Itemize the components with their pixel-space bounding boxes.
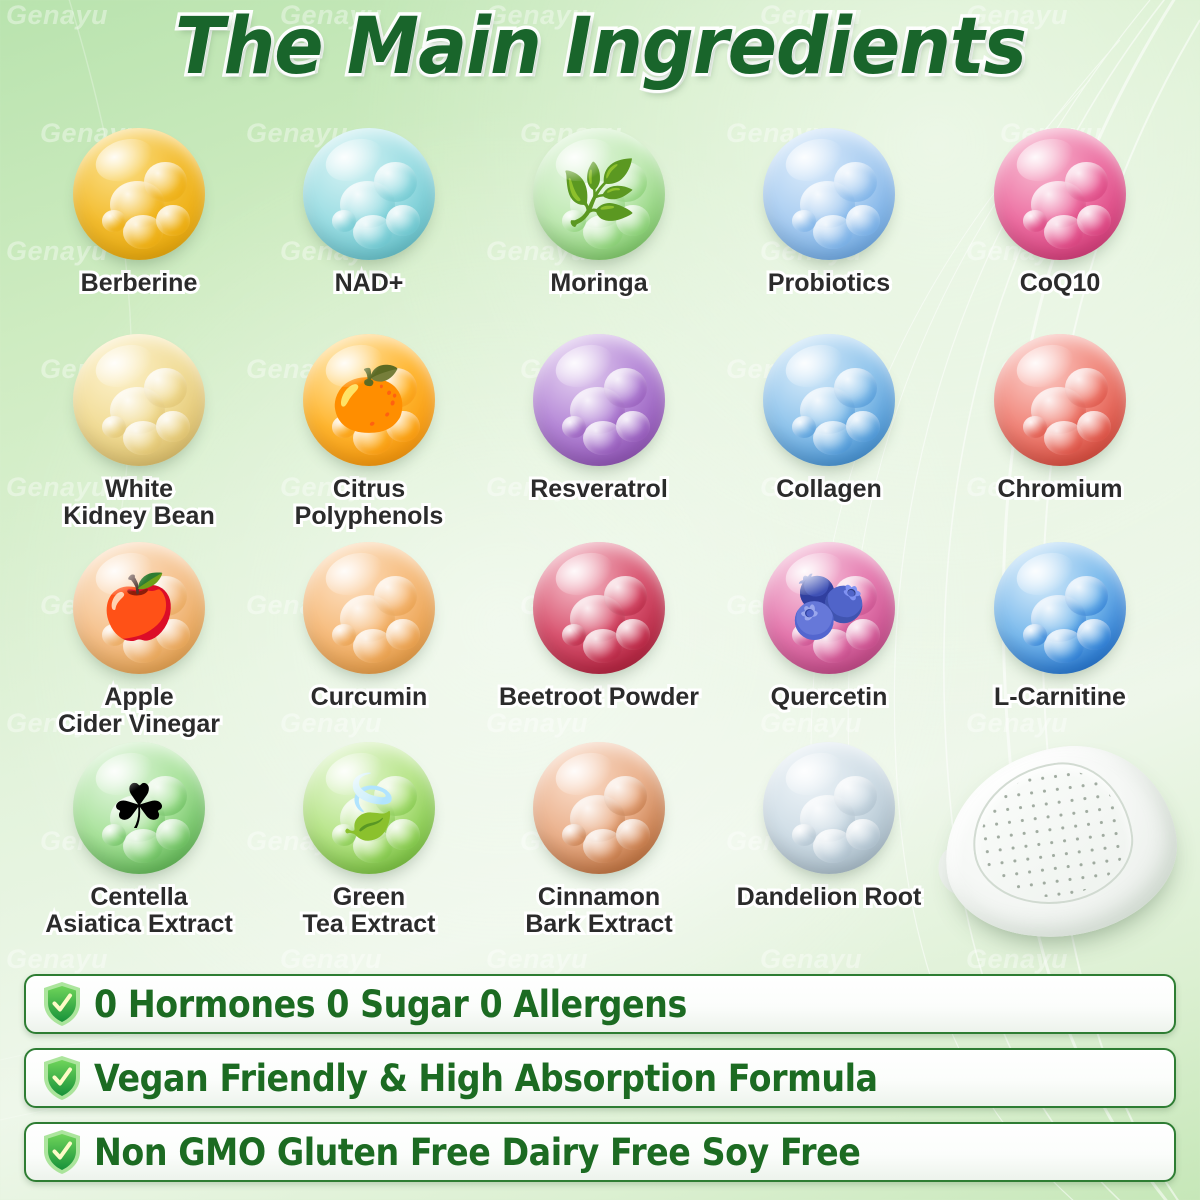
ingredient-label: Quercetin bbox=[771, 684, 888, 711]
claim-bar: Non GMO Gluten Free Dairy Free Soy Free bbox=[24, 1122, 1176, 1182]
ingredient-cell[interactable]: White Kidney Bean bbox=[24, 334, 254, 542]
title-container: The Main Ingredients bbox=[0, 8, 1200, 88]
white-teardrop-applicator bbox=[944, 748, 1176, 936]
ingredient-label: Citrus Polyphenols bbox=[295, 476, 444, 529]
ingredient-label: Probiotics bbox=[768, 270, 890, 297]
ingredient-label: Apple Cider Vinegar bbox=[58, 684, 220, 737]
ingredient-cell[interactable]: Berberine bbox=[24, 128, 254, 334]
bubble-inner-detail bbox=[533, 542, 665, 674]
ingredient-label: White Kidney Bean bbox=[63, 476, 214, 529]
claim-text: Vegan Friendly & High Absorption Formula bbox=[94, 1060, 878, 1097]
ingredient-glyph: ☘ bbox=[73, 742, 205, 874]
ingredient-label: L-Carnitine bbox=[994, 684, 1126, 711]
ingredient-glyph: 🍊 bbox=[303, 334, 435, 466]
ingredient-cell[interactable]: 🌿Moringa bbox=[484, 128, 714, 334]
red-chromium-molecule-icon bbox=[994, 334, 1126, 466]
bubble-inner-detail bbox=[73, 128, 205, 260]
ingredient-glyph: 🍃 bbox=[303, 742, 435, 874]
ingredient-label: Centella Asiatica Extract bbox=[45, 884, 233, 937]
bubble-inner-detail bbox=[994, 128, 1126, 260]
ingredient-glyph: 🍎 bbox=[73, 542, 205, 674]
ingredient-cell[interactable]: Chromium bbox=[944, 334, 1176, 542]
claim-bar: 0 Hormones 0 Sugar 0 Allergens bbox=[24, 974, 1176, 1034]
shield-check-icon bbox=[42, 1055, 82, 1101]
mixed-berries-icon: 🫐 bbox=[763, 542, 895, 674]
purple-resveratrol-icon bbox=[533, 334, 665, 466]
ingredient-cell[interactable]: ☘Centella Asiatica Extract bbox=[24, 742, 254, 948]
ingredient-cell[interactable]: 🍎Apple Cider Vinegar bbox=[24, 542, 254, 742]
apple-cider-vinegar-icon: 🍎 bbox=[73, 542, 205, 674]
bubble-inner-detail bbox=[994, 542, 1126, 674]
ingredient-label: Moringa bbox=[550, 270, 647, 297]
shield-check-icon bbox=[42, 1129, 82, 1175]
dandelion-seedhead-icon bbox=[763, 742, 895, 874]
ingredient-cell[interactable]: NAD+ bbox=[254, 128, 484, 334]
ingredient-label: NAD+ bbox=[335, 270, 404, 297]
pink-coq10-droplet-icon bbox=[994, 128, 1126, 260]
claim-text: 0 Hormones 0 Sugar 0 Allergens bbox=[94, 986, 687, 1023]
bubble-inner-detail bbox=[73, 334, 205, 466]
bubble-inner-detail bbox=[303, 128, 435, 260]
cyan-crystal-droplet-icon bbox=[303, 128, 435, 260]
bubble-inner-detail bbox=[533, 334, 665, 466]
ingredient-label: Green Tea Extract bbox=[303, 884, 436, 937]
ingredient-grid: BerberineNAD+🌿MoringaProbioticsCoQ10Whit… bbox=[24, 128, 1176, 948]
ingredient-label: Chromium bbox=[998, 476, 1123, 503]
ingredient-glyph: 🫐 bbox=[763, 542, 895, 674]
device-cell[interactable] bbox=[944, 742, 1176, 948]
bubble-inner-detail bbox=[303, 542, 435, 674]
bubble-inner-detail bbox=[763, 334, 895, 466]
ingredient-label: Cinnamon Bark Extract bbox=[525, 884, 672, 937]
orange-slice-icon: 🍊 bbox=[303, 334, 435, 466]
ingredient-label: Resveratrol bbox=[530, 476, 668, 503]
ingredient-cell[interactable]: 🫐Quercetin bbox=[714, 542, 944, 742]
centella-asiatica-icon: ☘ bbox=[73, 742, 205, 874]
ingredient-cell[interactable]: CoQ10 bbox=[944, 128, 1176, 334]
ingredient-label: Curcumin bbox=[311, 684, 428, 711]
ingredient-cell[interactable]: 🍃Green Tea Extract bbox=[254, 742, 484, 948]
ingredient-label: Dandelion Root bbox=[737, 884, 922, 911]
bubble-inner-detail bbox=[994, 334, 1126, 466]
bubble-inner-detail bbox=[763, 128, 895, 260]
golden-serum-droplet-icon bbox=[73, 128, 205, 260]
green-tea-leaf-icon: 🍃 bbox=[303, 742, 435, 874]
ingredient-label: Collagen bbox=[776, 476, 882, 503]
ingredient-glyph: 🌿 bbox=[533, 128, 665, 260]
ingredient-cell[interactable]: Dandelion Root bbox=[714, 742, 944, 948]
ingredient-cell[interactable]: Beetroot Powder bbox=[484, 542, 714, 742]
ingredient-cell[interactable]: Probiotics bbox=[714, 128, 944, 334]
probiotic-bacteria-icon bbox=[763, 128, 895, 260]
claim-bar: Vegan Friendly & High Absorption Formula bbox=[24, 1048, 1176, 1108]
ingredient-label: Beetroot Powder bbox=[499, 684, 699, 711]
turmeric-root-icon bbox=[303, 542, 435, 674]
bubble-inner-detail bbox=[533, 742, 665, 874]
blue-carnitine-core-icon bbox=[994, 542, 1126, 674]
white-kidney-bean-icon bbox=[73, 334, 205, 466]
bubble-inner-detail bbox=[763, 742, 895, 874]
page-title: The Main Ingredients bbox=[175, 8, 1026, 88]
claim-text: Non GMO Gluten Free Dairy Free Soy Free bbox=[94, 1134, 860, 1171]
ingredient-cell[interactable]: Cinnamon Bark Extract bbox=[484, 742, 714, 948]
cinnamon-bark-icon bbox=[533, 742, 665, 874]
ingredient-label: CoQ10 bbox=[1020, 270, 1101, 297]
ingredient-label: Berberine bbox=[81, 270, 198, 297]
ingredient-cell[interactable]: Resveratrol bbox=[484, 334, 714, 542]
ingredient-cell[interactable]: Curcumin bbox=[254, 542, 484, 742]
claims-list: 0 Hormones 0 Sugar 0 AllergensVegan Frie… bbox=[24, 974, 1176, 1182]
shield-check-icon bbox=[42, 981, 82, 1027]
ingredient-cell[interactable]: L-Carnitine bbox=[944, 542, 1176, 742]
beetroot-icon bbox=[533, 542, 665, 674]
blue-collagen-droplet-icon bbox=[763, 334, 895, 466]
infographic-stage: The Main Ingredients BerberineNAD+🌿Morin… bbox=[0, 0, 1200, 1200]
moringa-leaf-icon: 🌿 bbox=[533, 128, 665, 260]
ingredient-cell[interactable]: 🍊Citrus Polyphenols bbox=[254, 334, 484, 542]
ingredient-cell[interactable]: Collagen bbox=[714, 334, 944, 542]
